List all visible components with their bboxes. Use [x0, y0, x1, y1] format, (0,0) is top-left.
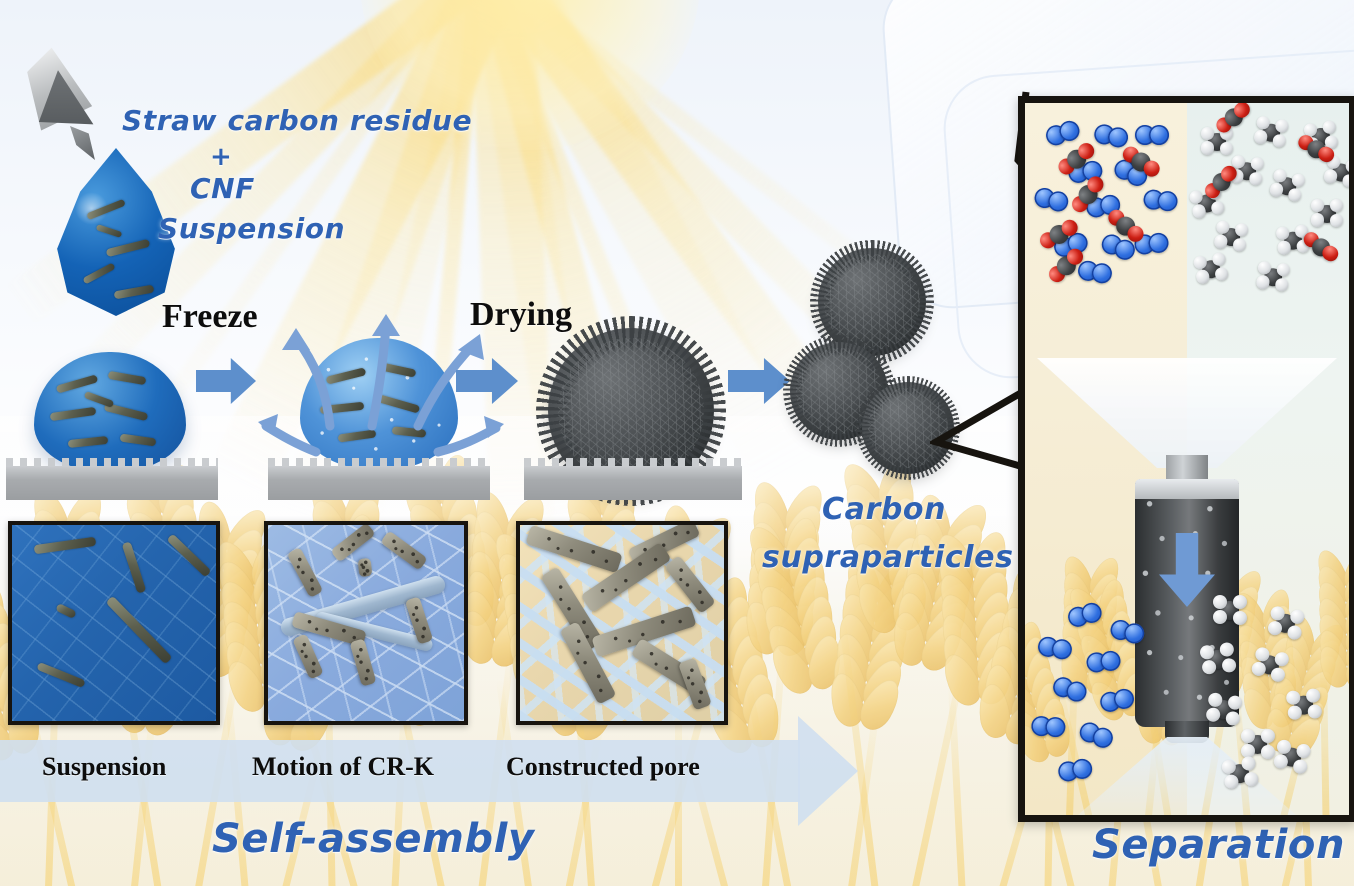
micrograph-panel-constructed-pore — [516, 521, 728, 725]
molecule-ch4 — [1256, 261, 1305, 296]
ingredient-label-line1: Straw carbon residue — [122, 104, 472, 137]
hydrogen-atom — [1233, 595, 1247, 609]
porous-rod — [358, 558, 373, 577]
crk-rod — [120, 434, 157, 447]
crk-rod — [68, 436, 109, 448]
hydrogen-atom — [1256, 275, 1271, 290]
micrograph-panel-suspension — [8, 521, 220, 725]
molecule-n2 — [1142, 189, 1191, 224]
hydrogen-atom — [1261, 729, 1275, 743]
molecule-ch4 — [1199, 640, 1249, 676]
molecule-n2 — [1030, 715, 1078, 748]
process-label-self-assembly: Self-assembly — [212, 816, 535, 862]
hydrogen-atom — [1243, 771, 1259, 787]
molecule-ch4 — [1205, 692, 1255, 728]
hydrogen-atom — [1330, 214, 1343, 227]
separation-panel — [1018, 96, 1354, 822]
column-cap — [1135, 479, 1239, 499]
wheat-ear — [1309, 548, 1349, 645]
nitrogen-atom — [1157, 190, 1179, 212]
ingredient-label-line3: Suspension — [158, 212, 345, 245]
crk-rod — [106, 239, 151, 257]
crk-rod — [108, 371, 147, 385]
pipette-tip — [70, 126, 96, 160]
crk-rod — [84, 391, 115, 408]
substrate-teeth-1 — [6, 458, 218, 467]
crk-rod — [50, 407, 97, 421]
ingredient-label-plus: + — [210, 142, 232, 172]
nitrogen-atom — [1149, 125, 1169, 145]
graphical-abstract-figure: Straw carbon residue + CNF Suspension Fr… — [0, 0, 1354, 886]
hydrogen-atom — [1201, 141, 1214, 154]
hydrogen-atom — [1214, 267, 1229, 282]
hydrogen-atom — [1213, 234, 1228, 249]
panel-caption-constructed-pore: Constructed pore — [506, 752, 700, 782]
molecule-ch4 — [1213, 595, 1259, 625]
hydrogen-atom — [1221, 657, 1237, 673]
molecule-ch4 — [1286, 687, 1335, 722]
hydrogen-atom — [1292, 758, 1309, 775]
hydrogen-atom — [1213, 610, 1227, 624]
nitrogen-atom — [1045, 716, 1066, 737]
hydrogen-atom — [1269, 666, 1286, 683]
hydrogen-atom — [1305, 688, 1320, 703]
hydrogen-atom — [1272, 133, 1287, 148]
hydrogen-atom — [1286, 624, 1302, 640]
product-label-line2: supraparticles — [762, 540, 1014, 575]
hydrogen-atom — [1287, 705, 1302, 720]
micrograph-panel-motion — [264, 521, 468, 725]
molecule-n2 — [1086, 649, 1135, 684]
crk-rod — [96, 224, 123, 238]
panel-caption-suspension: Suspension — [42, 752, 166, 782]
process-label-separation: Separation — [1092, 822, 1345, 868]
hydrogen-atom — [1275, 278, 1290, 293]
hydrogen-atom — [1225, 711, 1241, 727]
hydrogen-atom — [1241, 729, 1255, 743]
hydrogen-atom — [1277, 240, 1292, 255]
step-label-freeze: Freeze — [162, 298, 258, 336]
substrate-teeth-3 — [524, 458, 742, 467]
substrate-plate-3 — [524, 466, 742, 500]
hydrogen-atom — [1287, 187, 1303, 203]
ingredient-label-line2: CNF — [190, 172, 255, 205]
substrate-plate-1 — [6, 466, 218, 500]
nitrogen-atom — [1050, 638, 1073, 661]
product-label-line1: Carbon — [822, 492, 946, 527]
crk-rod — [114, 285, 155, 300]
hydrogen-atom — [1330, 199, 1343, 212]
crk-rod — [82, 262, 115, 284]
hydrogen-atom — [1233, 611, 1247, 625]
hydrogen-atom — [1341, 173, 1354, 189]
hydrogen-atom — [1307, 704, 1322, 719]
panel-caption-motion: Motion of CR-K — [252, 752, 434, 782]
hydrogen-atom — [1213, 595, 1227, 609]
substrate-plate-2 — [268, 466, 490, 500]
crk-rod — [56, 374, 99, 393]
